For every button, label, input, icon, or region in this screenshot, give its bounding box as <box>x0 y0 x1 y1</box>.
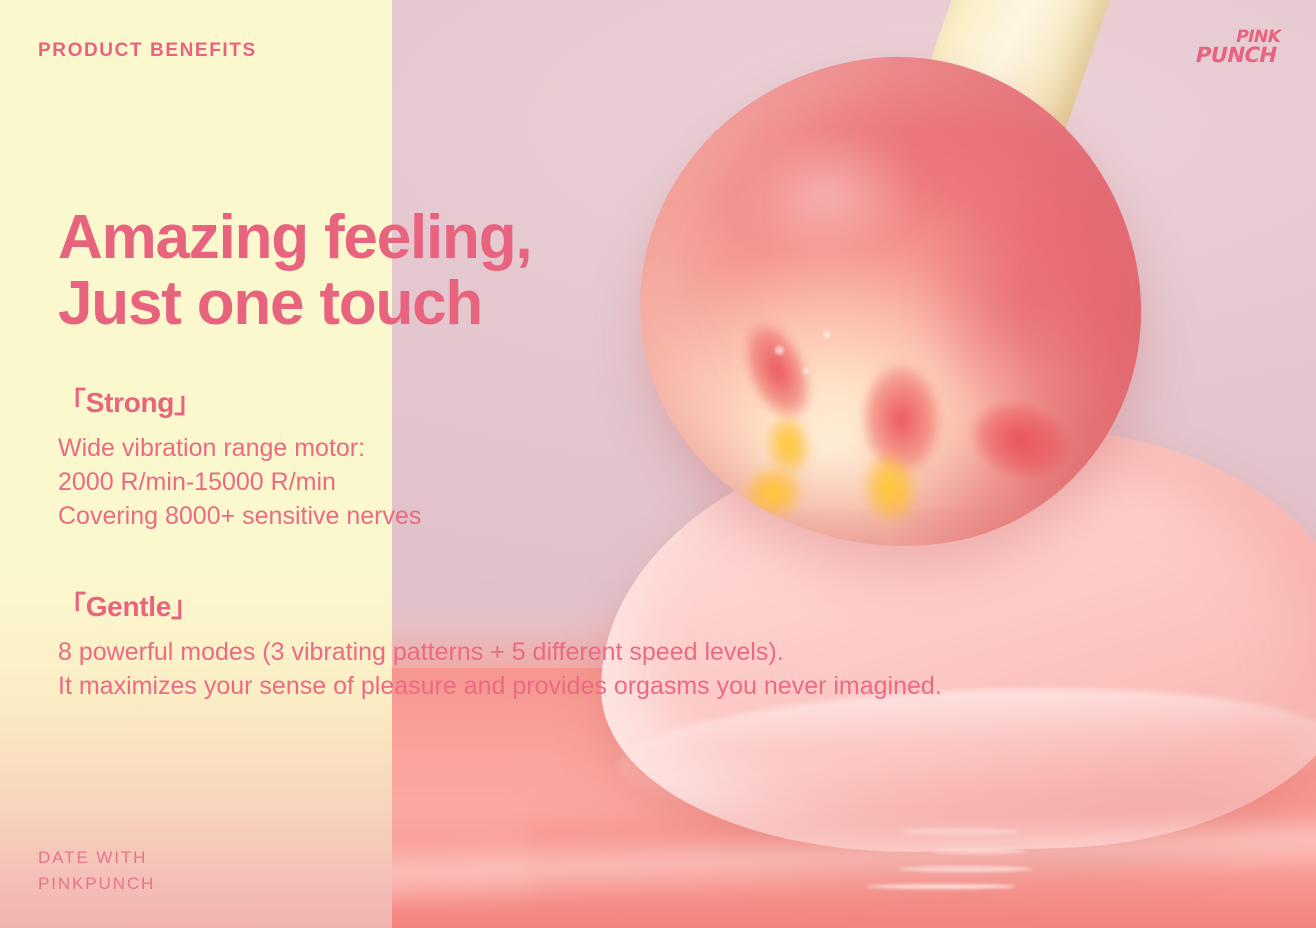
benefit-title-gentle: 「Gentle」 <box>58 585 942 625</box>
footer-tagline: DATE WITH PINKPUNCH <box>38 845 155 898</box>
benefit-title-strong: 「Strong」 <box>58 381 421 421</box>
benefit-body-strong: Wide vibration range motor: 2000 R/min-1… <box>58 431 421 533</box>
benefit-block-gentle: 「Gentle」 8 powerful modes (3 vibrating p… <box>58 585 942 703</box>
droplet-3 <box>823 330 831 338</box>
petal-mark-1 <box>729 310 826 433</box>
brand-logo: PINK PUNCH <box>1182 30 1281 65</box>
benefit-body-gentle: 8 powerful modes (3 vibrating patterns +… <box>58 635 942 703</box>
page-title: Amazing feeling, Just one touch <box>58 205 531 339</box>
product-benefits-slide: PRODUCT BENEFITS Amazing feeling, Just o… <box>0 0 1316 928</box>
eyebrow-label: PRODUCT BENEFITS <box>38 40 257 62</box>
benefit-block-strong: 「Strong」 Wide vibration range motor: 200… <box>58 381 421 533</box>
brand-logo-line-2: PUNCH <box>1188 46 1278 65</box>
